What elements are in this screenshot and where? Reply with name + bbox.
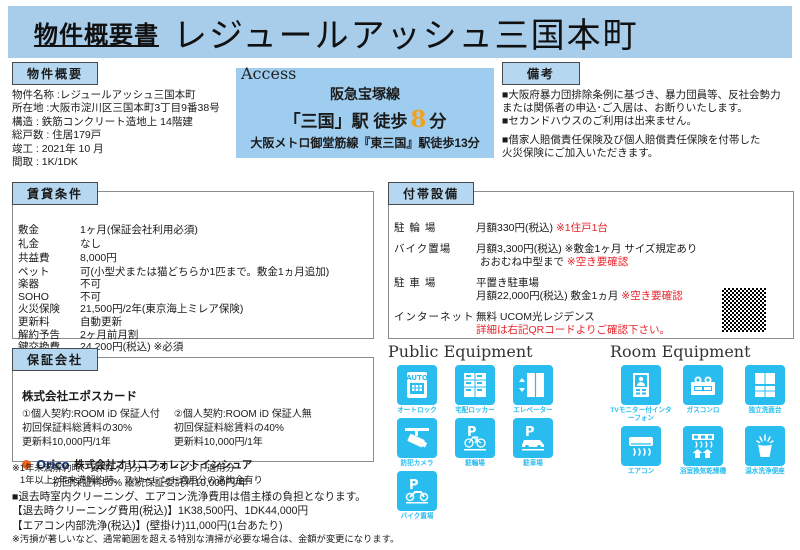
- equipment-item-washstand: 独立洗面台: [734, 365, 796, 423]
- gas-stove-icon: [683, 365, 723, 405]
- equipment-item-delivery-locker: 宅配ロッカー: [446, 365, 504, 415]
- facilities-heading: 付帯設備: [388, 182, 474, 205]
- overview-line-completion: 竣工 : 2021年 10 月: [12, 143, 237, 156]
- facility-value: 月額3,300円(税込) ※敷金1ヶ月 サイズ規定あり おおむね中型まで ※空き…: [476, 243, 794, 270]
- tv-intercom-icon: [621, 365, 661, 405]
- parking-type: 平置き駐車場: [476, 277, 539, 289]
- guarantee-plan-2: ②個人契約:ROOM iD 保証人無 初回保証料総賃料の40% 更新料10,00…: [174, 408, 312, 450]
- public-equipment-title: Public Equipment: [388, 342, 606, 361]
- row-key: 敷金: [18, 223, 80, 237]
- facility-row-bicycle: 駐 輪 場 月額330円(税込) ※1住戸1台: [394, 222, 794, 236]
- facility-value: 月額330円(税込) ※1住戸1台: [476, 222, 794, 236]
- property-name-title: レジュールアッシュ三国本町: [173, 8, 639, 57]
- plan2-renewal-fee: 更新料10,000円/1年: [174, 436, 312, 450]
- equipment-label: オートロック: [388, 407, 446, 415]
- access-rail-line: 阪急宝塚線: [236, 84, 494, 104]
- table-row: 楽器 不可: [18, 278, 374, 291]
- rental-conditions-heading: 賃貸条件: [12, 182, 98, 205]
- guarantee-company-name: 株式会社エポスカード: [22, 388, 374, 404]
- equipment-label: バイク置場: [388, 513, 446, 521]
- bike-availability-note: ※空き要確認: [567, 256, 628, 268]
- equipment-label: 独立洗面台: [734, 407, 796, 415]
- facility-row-bike: バイク置場 月額3,300円(税込) ※敷金1ヶ月 サイズ規定あり おおむね中型…: [394, 243, 794, 270]
- table-row: 共益費 8,000円: [18, 251, 374, 265]
- plan2-title: ②個人契約:ROOM iD 保証人無: [174, 408, 312, 422]
- row-key: SOHO: [18, 291, 80, 304]
- auto-lock-icon: AUTO: [397, 365, 437, 405]
- remarks-line-3: ■セカンドハウスのご利用は出来ません。: [502, 115, 794, 128]
- equipment-item-motorbike-parking: P バイク置場: [388, 471, 446, 521]
- row-value: 2ヶ月前月割: [80, 329, 374, 342]
- row-key: 礼金: [18, 237, 80, 251]
- overview-line-layout: 間取 : 1K/1DK: [12, 156, 237, 169]
- equipment-item-bicycle-parking: P 駐輪場: [446, 418, 504, 468]
- equipment-label: 駐車場: [504, 460, 562, 468]
- bath-dryer-icon: [683, 426, 723, 466]
- table-row: SOHO 不可: [18, 291, 374, 304]
- equipment-item-air-conditioner: エアコン: [610, 426, 672, 476]
- access-heading: Access: [236, 64, 296, 83]
- remarks-line-5: 火災保険にご加入いただきます。: [502, 147, 794, 160]
- row-value: 不可: [80, 278, 374, 291]
- plan1-initial-fee: 初回保証料総賃料の30%: [22, 422, 160, 436]
- property-summary-document: 物件概要書 レジュールアッシュ三国本町 物件概要 物件名称 :レジュールアッシュ…: [0, 0, 800, 550]
- rental-conditions-table: 敷金 1ヶ月(保証会社利用必須) 礼金 なし 共益費 8,000円 ペット 可(…: [12, 205, 374, 354]
- table-row: 解約予告 2ヶ月前月割: [18, 329, 374, 342]
- guarantee-plans: ①個人契約:ROOM iD 保証人付 初回保証料総賃料の30% 更新料10,00…: [22, 408, 374, 450]
- parking-availability-note: ※空き要確認: [621, 290, 682, 302]
- property-overview-lines: 物件名称 :レジュールアッシュ三国本町 所在地 :大阪市淀川区三国本町3丁目9番…: [12, 89, 237, 169]
- equipment-item-elevator: エレベーター: [504, 365, 562, 415]
- table-row: 敷金 1ヶ月(保証会社利用必須): [18, 223, 374, 237]
- delivery-locker-icon: [455, 365, 495, 405]
- rental-conditions-section: 賃貸条件 敷金 1ヶ月(保証会社利用必須) 礼金 なし 共益費 8,000円 ペ…: [12, 182, 374, 354]
- facility-key: 駐 輪 場: [394, 222, 476, 236]
- guarantee-plan-1: ①個人契約:ROOM iD 保証人付 初回保証料総賃料の30% 更新料10,00…: [22, 408, 160, 450]
- equipment-item-security-camera: 防犯カメラ: [388, 418, 446, 468]
- property-overview-section: 物件概要 物件名称 :レジュールアッシュ三国本町 所在地 :大阪市淀川区三国本町…: [12, 62, 237, 169]
- equipment-item-car-parking: P 駐車場: [504, 418, 562, 468]
- security-camera-icon: [397, 418, 437, 458]
- equipment-label: 防犯カメラ: [388, 460, 446, 468]
- equipment-item-gas-stove: ガスコンロ: [672, 365, 734, 423]
- row-key: ペット: [18, 266, 80, 279]
- access-secondary-line: 大阪メトロ御堂筋線『東三国』駅徒歩13分: [236, 134, 494, 151]
- table-row: 礼金 なし: [18, 237, 374, 251]
- public-equipment-grid: AUTO オートロック: [388, 365, 606, 524]
- facility-key: 駐 車 場: [394, 277, 476, 304]
- row-key: 火災保険: [18, 303, 80, 316]
- bicycle-note: ※1住戸1台: [556, 222, 608, 234]
- equipment-item-bath-dryer: 浴室換気乾燥機: [672, 426, 734, 476]
- row-value: 自動更新: [80, 316, 374, 329]
- property-overview-heading: 物件概要: [12, 62, 98, 85]
- overview-line-units: 総戸数 : 住居179戸: [12, 129, 237, 142]
- access-walk-minutes: 8: [407, 106, 429, 133]
- bike-fee: 月額3,300円(税込) ※敷金1ヶ月 サイズ規定あり: [476, 243, 697, 255]
- svg-text:AUTO: AUTO: [406, 374, 428, 382]
- table-row: ペット 可(小型犬または猫どちらか1匹まで。敷金1ヵ月追加): [18, 266, 374, 279]
- table-row: 更新料 自動更新: [18, 316, 374, 329]
- plan1-title: ①個人契約:ROOM iD 保証人付: [22, 408, 160, 422]
- plan2-initial-fee: 初回保証料総賃料の40%: [174, 422, 312, 436]
- row-value: なし: [80, 237, 374, 251]
- row-key: 更新料: [18, 316, 80, 329]
- parking-fee: 月額22,000円(税込) 敷金1ヵ月: [476, 290, 618, 302]
- remarks-line-1: ■大阪府暴力団排除条例に基づき、暴力団員等、反社会勢力: [502, 89, 794, 102]
- equipment-label: ガスコンロ: [672, 407, 734, 415]
- equipment-item-washlet: 温水洗浄便座: [734, 426, 796, 476]
- access-station-prefix: 「三国」駅 徒歩: [284, 112, 408, 131]
- qr-code-icon: [722, 288, 766, 332]
- overview-line-address: 所在地 :大阪市淀川区三国本町3丁目9番38号: [12, 102, 237, 115]
- internet-service: 無料 UCOM光レジデンス: [476, 311, 595, 323]
- equipment-label: エアコン: [610, 468, 672, 476]
- equipment-label: 駐輪場: [446, 460, 504, 468]
- bike-size-note: おおむね中型まで: [476, 256, 564, 268]
- note-line-6: ※汚損が著しいなど、通常範囲を超える特別な清掃が必要な場合は、金額が変更になりま…: [12, 533, 482, 545]
- overview-line-structure: 構造 : 鉄筋コンクリート造地上 14階建: [12, 116, 237, 129]
- svg-text:P: P: [525, 425, 535, 440]
- row-value: 不可: [80, 291, 374, 304]
- remarks-section: 備考 ■大阪府暴力団排除条例に基づき、暴力団員等、反社会勢力 または関係者の申込…: [502, 62, 794, 160]
- guarantee-heading: 保証会社: [12, 348, 98, 371]
- row-value: 可(小型犬または猫どちらか1匹まで。敷金1ヵ月追加): [80, 266, 374, 279]
- room-equipment-grid: TVモニター付インターフォン ガスコンロ: [610, 365, 796, 479]
- room-equipment-group: Room Equipment: [610, 342, 796, 479]
- equipment-label: TVモニター付インターフォン: [610, 407, 672, 423]
- svg-text:P: P: [409, 478, 419, 493]
- row-value: 8,000円: [80, 251, 374, 265]
- row-key: 共益費: [18, 251, 80, 265]
- facility-key: インターネット: [394, 311, 476, 338]
- remarks-line-2: または関係者の申込･ご入居は、お断りいたします。: [502, 102, 794, 115]
- remarks-heading: 備考: [502, 62, 580, 85]
- row-key: 解約予告: [18, 329, 80, 342]
- document-subtitle: 物件概要書: [34, 15, 159, 50]
- plan1-renewal-fee: 更新料10,000円/1年: [22, 436, 160, 450]
- equipment-item-auto-lock: AUTO オートロック: [388, 365, 446, 415]
- elevator-icon: [513, 365, 553, 405]
- equipment-item-tv-intercom: TVモニター付インターフォン: [610, 365, 672, 423]
- equipment-label: 宅配ロッカー: [446, 407, 504, 415]
- washstand-icon: [745, 365, 785, 405]
- air-conditioner-icon: [621, 426, 661, 466]
- row-value: 21,500円/2年(東京海上ミレア保険): [80, 303, 374, 316]
- document-header: 物件概要書 レジュールアッシュ三国本町: [8, 6, 792, 58]
- bicycle-parking-icon: P: [455, 418, 495, 458]
- motorbike-parking-icon: P: [397, 471, 437, 511]
- equipment-label: エレベーター: [504, 407, 562, 415]
- facility-key: バイク置場: [394, 243, 476, 270]
- table-row: 火災保険 21,500円/2年(東京海上ミレア保険): [18, 303, 374, 316]
- remarks-lines: ■大阪府暴力団排除条例に基づき、暴力団員等、反社会勢力 または関係者の申込･ご入…: [502, 89, 794, 160]
- internet-qr-note: 詳細は右記QRコードよりご確認下さい。: [476, 324, 670, 336]
- room-equipment-title: Room Equipment: [610, 342, 796, 361]
- equipment-section: Public Equipment AUTO: [388, 342, 796, 482]
- public-equipment-group: Public Equipment AUTO: [388, 342, 606, 524]
- equipment-label: 浴室換気乾燥機: [672, 468, 734, 476]
- bicycle-fee: 月額330円(税込): [476, 222, 553, 234]
- facilities-list: 駐 輪 場 月額330円(税込) ※1住戸1台 バイク置場 月額3,300円(税…: [388, 205, 794, 338]
- facilities-section: 付帯設備 駐 輪 場 月額330円(税込) ※1住戸1台 バイク置場 月額3,3…: [388, 182, 794, 345]
- car-parking-icon: P: [513, 418, 553, 458]
- row-value: 1ヶ月(保証会社利用必須): [80, 223, 374, 237]
- access-station-suffix: 分: [429, 112, 446, 131]
- equipment-label: 温水洗浄便座: [734, 468, 796, 476]
- overview-line-name: 物件名称 :レジュールアッシュ三国本町: [12, 89, 237, 102]
- access-walk-line: 「三国」駅 徒歩8分: [236, 106, 494, 133]
- remarks-line-4: ■借家人賠償責任保険及び個人賠償責任保険を付帯した: [502, 134, 794, 147]
- washlet-icon: [745, 426, 785, 466]
- row-key: 楽器: [18, 278, 80, 291]
